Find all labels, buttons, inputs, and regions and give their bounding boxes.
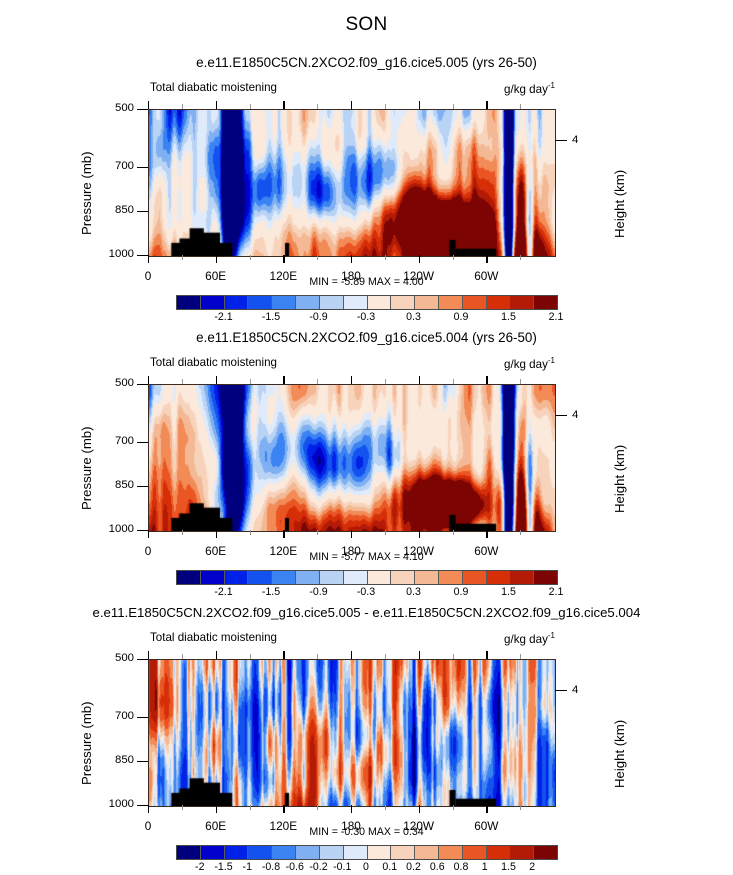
units-text: g/kg day bbox=[504, 83, 548, 96]
panel-1-rtickmark bbox=[555, 140, 567, 141]
xtick-mark bbox=[486, 651, 487, 659]
xtick-mark-minor bbox=[520, 104, 521, 109]
xtick-mark bbox=[419, 805, 420, 813]
xtick-mark bbox=[419, 651, 420, 659]
xtick-label-120W: 120W bbox=[389, 544, 449, 558]
ytick-mark-700 bbox=[137, 167, 148, 168]
colorbar-tick-label: -2.1 bbox=[214, 311, 232, 323]
xtick-mark-minor bbox=[385, 379, 386, 384]
colorbar-cell-12 bbox=[462, 296, 486, 309]
panel-3-canvas bbox=[149, 660, 555, 806]
colorbar-cell-12 bbox=[462, 571, 486, 584]
xtick-mark bbox=[351, 805, 352, 813]
colorbar-tick-label: 2.1 bbox=[549, 586, 564, 598]
panel-3-ylabel: Pressure (mb) bbox=[79, 701, 94, 785]
panel-2-subhead: Total diabatic moistening bbox=[150, 356, 277, 369]
ytick-mark-850 bbox=[137, 486, 148, 487]
xtick-mark-minor bbox=[385, 104, 386, 109]
colorbar-tick-label: -0.3 bbox=[357, 586, 375, 598]
colorbar-cell-7 bbox=[343, 296, 367, 309]
xtick-mark-minor bbox=[317, 104, 318, 109]
colorbar-cell-8 bbox=[367, 571, 391, 584]
panel-1-ylabel: Pressure (mb) bbox=[79, 151, 94, 235]
ytick-mark-700 bbox=[137, 717, 148, 718]
xtick-label-60E: 60E bbox=[186, 269, 246, 283]
xtick-mark bbox=[419, 376, 420, 384]
xtick-mark-minor bbox=[182, 654, 183, 659]
colorbar-cell-10 bbox=[414, 846, 438, 859]
xtick-label-0: 0 bbox=[118, 544, 178, 558]
colorbar-cell-3 bbox=[247, 846, 271, 859]
xtick-mark-minor bbox=[385, 654, 386, 659]
colorbar-cell-3 bbox=[247, 296, 271, 309]
ytick-mark-850 bbox=[137, 761, 148, 762]
ytick-label-1000: 1000 bbox=[96, 798, 134, 810]
season-title: SON bbox=[0, 14, 733, 36]
xtick-mark-minor bbox=[520, 255, 521, 260]
panel-3-colorbar bbox=[176, 845, 558, 860]
xtick-mark-minor bbox=[385, 255, 386, 260]
panel-2-canvas bbox=[149, 385, 555, 531]
colorbar-cell-5 bbox=[295, 846, 319, 859]
xtick-mark-minor bbox=[250, 805, 251, 810]
xtick-mark bbox=[486, 101, 487, 109]
xtick-label-0: 0 bbox=[118, 269, 178, 283]
xtick-label-0: 0 bbox=[118, 819, 178, 833]
colorbar-cell-1 bbox=[200, 846, 224, 859]
ytick-mark-850 bbox=[137, 211, 148, 212]
xtick-mark-minor bbox=[520, 654, 521, 659]
colorbar-cell-9 bbox=[390, 846, 414, 859]
colorbar-tick-label: 0 bbox=[363, 861, 369, 873]
xtick-label-120W: 120W bbox=[389, 819, 449, 833]
ytick-mark-700 bbox=[137, 442, 148, 443]
xtick-label-180: 180 bbox=[321, 269, 381, 283]
xtick-mark-minor bbox=[250, 104, 251, 109]
xtick-mark-minor bbox=[453, 530, 454, 535]
xtick-mark bbox=[148, 376, 149, 384]
ytick-mark-1000 bbox=[137, 530, 148, 531]
xtick-mark-minor bbox=[182, 104, 183, 109]
colorbar-cell-2 bbox=[224, 846, 248, 859]
ytick-label-850: 850 bbox=[96, 754, 134, 766]
colorbar-tick-label: 0.3 bbox=[406, 586, 421, 598]
xtick-label-60W: 60W bbox=[456, 544, 516, 558]
colorbar-cell-11 bbox=[438, 571, 462, 584]
xtick-mark-minor bbox=[250, 379, 251, 384]
xtick-mark-minor bbox=[182, 379, 183, 384]
xtick-mark bbox=[486, 530, 487, 538]
colorbar-tick-label: -2 bbox=[195, 861, 204, 873]
xtick-mark-minor bbox=[182, 255, 183, 260]
xtick-mark-minor bbox=[317, 654, 318, 659]
colorbar-cell-12 bbox=[462, 846, 486, 859]
colorbar-cell-15 bbox=[533, 296, 557, 309]
xtick-mark-minor bbox=[317, 255, 318, 260]
ytick-label-700: 700 bbox=[96, 710, 134, 722]
colorbar-cell-2 bbox=[224, 571, 248, 584]
panel-1-units: g/kg day-1 bbox=[504, 81, 555, 96]
xtick-label-120E: 120E bbox=[253, 269, 313, 283]
xtick-mark bbox=[283, 101, 284, 109]
panel-2-rlabel: Height (km) bbox=[612, 445, 627, 513]
panel-2-units: g/kg day-1 bbox=[504, 356, 555, 371]
colorbar-cell-1 bbox=[200, 296, 224, 309]
colorbar-tick-label: -1.5 bbox=[262, 586, 280, 598]
colorbar-tick-label: 0.9 bbox=[454, 311, 469, 323]
ytick-label-850: 850 bbox=[96, 479, 134, 491]
colorbar-cell-0 bbox=[177, 846, 200, 859]
xtick-mark-minor bbox=[385, 530, 386, 535]
colorbar-tick-label: -0.3 bbox=[357, 311, 375, 323]
xtick-mark bbox=[216, 255, 217, 263]
xtick-mark bbox=[148, 651, 149, 659]
xtick-mark-minor bbox=[453, 654, 454, 659]
ytick-mark-500 bbox=[137, 109, 148, 110]
xtick-mark-minor bbox=[182, 530, 183, 535]
xtick-mark-minor bbox=[317, 805, 318, 810]
colorbar-cell-14 bbox=[509, 846, 533, 859]
xtick-mark-minor bbox=[385, 805, 386, 810]
panel-1-subhead: Total diabatic moistening bbox=[150, 81, 277, 94]
panel-1-rtick-4: 4 bbox=[572, 134, 578, 146]
panel-2-rtick-4: 4 bbox=[572, 409, 578, 421]
xtick-label-180: 180 bbox=[321, 819, 381, 833]
xtick-label-120E: 120E bbox=[253, 544, 313, 558]
colorbar-cell-15 bbox=[533, 846, 557, 859]
colorbar-tick-label: -1.5 bbox=[214, 861, 232, 873]
colorbar-tick-label: 0.8 bbox=[454, 861, 469, 873]
colorbar-cell-13 bbox=[486, 571, 510, 584]
panel-3-rlabel: Height (km) bbox=[612, 720, 627, 788]
xtick-mark-minor bbox=[250, 654, 251, 659]
xtick-mark bbox=[148, 805, 149, 813]
units-exponent: -1 bbox=[548, 631, 555, 640]
colorbar-tick-label: -0.6 bbox=[286, 861, 304, 873]
colorbar-cell-4 bbox=[271, 846, 295, 859]
colorbar-tick-label: 1.5 bbox=[501, 861, 516, 873]
xtick-label-60E: 60E bbox=[186, 544, 246, 558]
colorbar-cell-0 bbox=[177, 296, 200, 309]
panel-3-colorbar-labels: -2-1.5-1-0.8-0.6-0.2-0.100.10.20.60.811.… bbox=[176, 861, 556, 875]
colorbar-cell-13 bbox=[486, 846, 510, 859]
xtick-mark bbox=[486, 376, 487, 384]
ytick-label-1000: 1000 bbox=[96, 248, 134, 260]
ytick-mark-1000 bbox=[137, 805, 148, 806]
panel-2-rtickmark bbox=[555, 415, 567, 416]
xtick-mark bbox=[351, 255, 352, 263]
ytick-label-1000: 1000 bbox=[96, 523, 134, 535]
colorbar-cell-1 bbox=[200, 571, 224, 584]
colorbar-tick-label: 2 bbox=[529, 861, 535, 873]
colorbar-cell-7 bbox=[343, 571, 367, 584]
xtick-mark bbox=[148, 101, 149, 109]
ytick-label-500: 500 bbox=[96, 652, 134, 664]
colorbar-tick-label: -2.1 bbox=[214, 586, 232, 598]
xtick-mark bbox=[351, 376, 352, 384]
xtick-mark-minor bbox=[453, 805, 454, 810]
ytick-mark-1000 bbox=[137, 255, 148, 256]
xtick-mark bbox=[486, 255, 487, 263]
colorbar-cell-2 bbox=[224, 296, 248, 309]
panel-1-field bbox=[148, 109, 556, 257]
xtick-mark bbox=[216, 651, 217, 659]
xtick-mark-minor bbox=[317, 530, 318, 535]
colorbar-tick-label: -0.1 bbox=[333, 861, 351, 873]
colorbar-cell-11 bbox=[438, 296, 462, 309]
xtick-label-120W: 120W bbox=[389, 269, 449, 283]
xtick-mark-minor bbox=[453, 379, 454, 384]
panel-3-rtick-4: 4 bbox=[572, 684, 578, 696]
panel-3-rtickmark bbox=[555, 690, 567, 691]
xtick-mark-minor bbox=[317, 379, 318, 384]
panel-1-colorbar-labels: -2.1-1.5-0.9-0.30.30.91.52.1 bbox=[176, 311, 556, 325]
colorbar-cell-8 bbox=[367, 296, 391, 309]
panel-2-title: e.e11.E1850C5CN.2XCO2.f09_g16.cice5.004 … bbox=[0, 330, 733, 345]
colorbar-tick-label: 0.1 bbox=[382, 861, 397, 873]
ytick-label-500: 500 bbox=[96, 377, 134, 389]
panel-2-colorbar-labels: -2.1-1.5-0.9-0.30.30.91.52.1 bbox=[176, 586, 556, 600]
panel-2-colorbar bbox=[176, 570, 558, 585]
colorbar-cell-11 bbox=[438, 846, 462, 859]
units-text: g/kg day bbox=[504, 358, 548, 371]
colorbar-tick-label: 0.3 bbox=[406, 311, 421, 323]
colorbar-cell-6 bbox=[319, 296, 343, 309]
units-exponent: -1 bbox=[548, 81, 555, 90]
figure-root: SON e.e11.E1850C5CN.2XCO2.f09_g16.cice5.… bbox=[0, 0, 733, 872]
colorbar-tick-label: -0.9 bbox=[309, 586, 327, 598]
units-text: g/kg day bbox=[504, 633, 548, 646]
colorbar-cell-0 bbox=[177, 571, 200, 584]
panel-1-title: e.e11.E1850C5CN.2XCO2.f09_g16.cice5.005 … bbox=[0, 55, 733, 70]
ytick-mark-500 bbox=[137, 659, 148, 660]
ytick-label-500: 500 bbox=[96, 102, 134, 114]
colorbar-tick-label: 2.1 bbox=[549, 311, 564, 323]
xtick-mark-minor bbox=[453, 104, 454, 109]
colorbar-tick-label: -1 bbox=[243, 861, 252, 873]
panel-3-title: e.e11.E1850C5CN.2XCO2.f09_g16.cice5.005 … bbox=[0, 605, 733, 620]
ytick-label-850: 850 bbox=[96, 204, 134, 216]
xtick-mark bbox=[283, 651, 284, 659]
panel-3-subhead: Total diabatic moistening bbox=[150, 631, 277, 644]
colorbar-cell-14 bbox=[509, 296, 533, 309]
xtick-label-60W: 60W bbox=[456, 269, 516, 283]
colorbar-cell-15 bbox=[533, 571, 557, 584]
ytick-label-700: 700 bbox=[96, 435, 134, 447]
colorbar-cell-5 bbox=[295, 296, 319, 309]
colorbar-tick-label: 0.6 bbox=[430, 861, 445, 873]
colorbar-cell-9 bbox=[390, 571, 414, 584]
colorbar-cell-14 bbox=[509, 571, 533, 584]
ytick-mark-500 bbox=[137, 384, 148, 385]
xtick-mark bbox=[351, 651, 352, 659]
panel-1-colorbar bbox=[176, 295, 558, 310]
xtick-mark bbox=[283, 376, 284, 384]
colorbar-tick-label: 0.2 bbox=[406, 861, 421, 873]
colorbar-cell-4 bbox=[271, 571, 295, 584]
colorbar-cell-5 bbox=[295, 571, 319, 584]
xtick-mark bbox=[486, 805, 487, 813]
xtick-mark bbox=[351, 530, 352, 538]
xtick-mark bbox=[216, 101, 217, 109]
colorbar-tick-label: 1.5 bbox=[501, 311, 516, 323]
panel-3-units: g/kg day-1 bbox=[504, 631, 555, 646]
xtick-mark-minor bbox=[250, 530, 251, 535]
ytick-label-700: 700 bbox=[96, 160, 134, 172]
xtick-mark bbox=[216, 530, 217, 538]
colorbar-cell-3 bbox=[247, 571, 271, 584]
xtick-mark bbox=[216, 376, 217, 384]
colorbar-cell-4 bbox=[271, 296, 295, 309]
xtick-label-180: 180 bbox=[321, 544, 381, 558]
colorbar-tick-label: 1.5 bbox=[501, 586, 516, 598]
colorbar-tick-label: 1 bbox=[482, 861, 488, 873]
xtick-mark-minor bbox=[520, 379, 521, 384]
colorbar-cell-8 bbox=[367, 846, 391, 859]
xtick-mark bbox=[148, 530, 149, 538]
xtick-mark bbox=[283, 255, 284, 263]
xtick-mark-minor bbox=[453, 255, 454, 260]
panel-1-rlabel: Height (km) bbox=[612, 170, 627, 238]
xtick-mark-minor bbox=[520, 530, 521, 535]
colorbar-cell-10 bbox=[414, 296, 438, 309]
xtick-mark bbox=[419, 530, 420, 538]
colorbar-cell-10 bbox=[414, 571, 438, 584]
xtick-mark bbox=[419, 255, 420, 263]
colorbar-tick-label: 0.9 bbox=[454, 586, 469, 598]
colorbar-cell-6 bbox=[319, 846, 343, 859]
colorbar-tick-label: -0.9 bbox=[309, 311, 327, 323]
colorbar-tick-label: -0.8 bbox=[262, 861, 280, 873]
xtick-mark bbox=[148, 255, 149, 263]
colorbar-cell-6 bbox=[319, 571, 343, 584]
units-exponent: -1 bbox=[548, 356, 555, 365]
xtick-mark bbox=[283, 530, 284, 538]
xtick-mark-minor bbox=[520, 805, 521, 810]
panel-1-canvas bbox=[149, 110, 555, 256]
panel-2-field bbox=[148, 384, 556, 532]
xtick-mark-minor bbox=[182, 805, 183, 810]
xtick-mark bbox=[283, 805, 284, 813]
xtick-label-60W: 60W bbox=[456, 819, 516, 833]
colorbar-cell-7 bbox=[343, 846, 367, 859]
panel-2-ylabel: Pressure (mb) bbox=[79, 426, 94, 510]
colorbar-tick-label: -0.2 bbox=[309, 861, 327, 873]
xtick-mark bbox=[216, 805, 217, 813]
colorbar-cell-13 bbox=[486, 296, 510, 309]
xtick-mark bbox=[351, 101, 352, 109]
panel-3-field bbox=[148, 659, 556, 807]
xtick-mark bbox=[419, 101, 420, 109]
xtick-mark-minor bbox=[250, 255, 251, 260]
xtick-label-60E: 60E bbox=[186, 819, 246, 833]
colorbar-tick-label: -1.5 bbox=[262, 311, 280, 323]
xtick-label-120E: 120E bbox=[253, 819, 313, 833]
colorbar-cell-9 bbox=[390, 296, 414, 309]
